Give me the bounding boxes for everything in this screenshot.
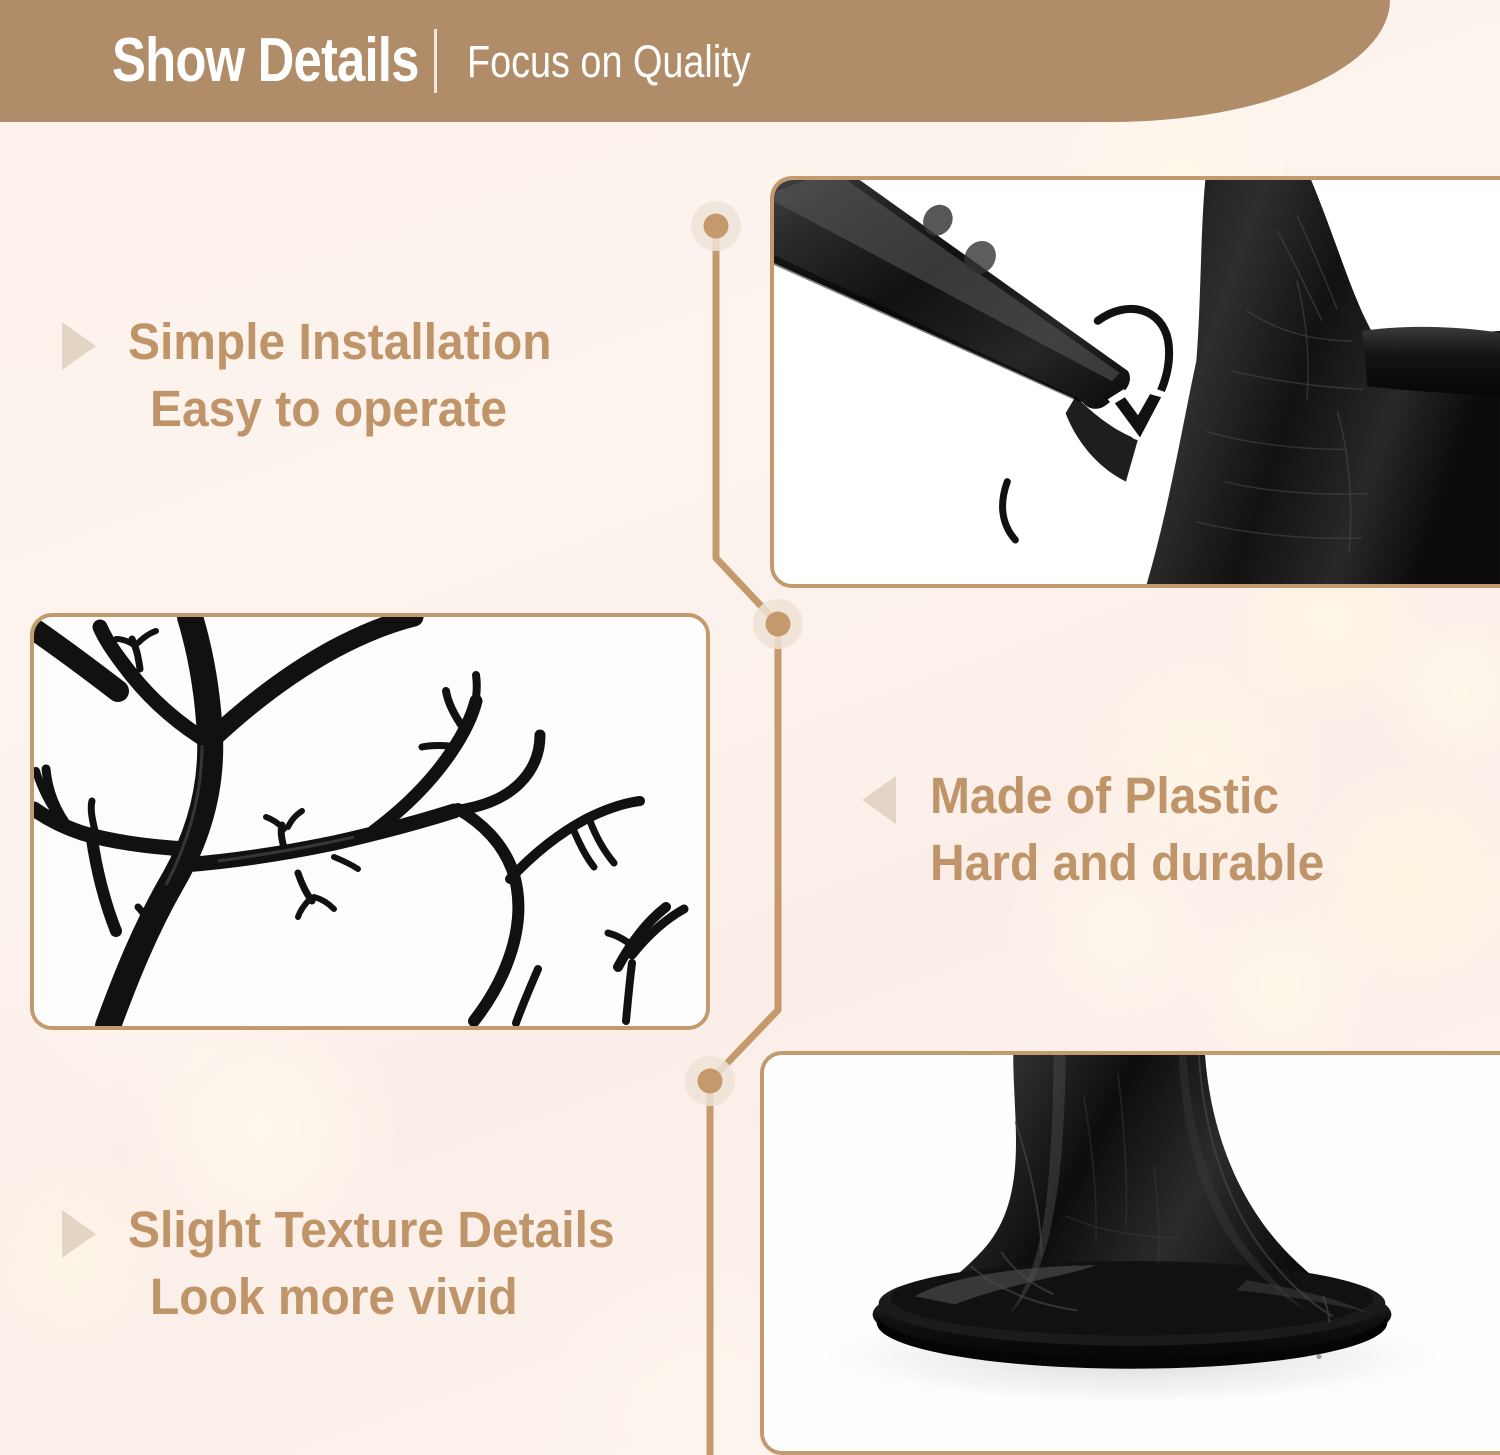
installation-closeup-illustration — [774, 180, 1500, 586]
photo-installation-closeup — [770, 176, 1500, 588]
base-closeup-illustration — [764, 1055, 1500, 1453]
feature-text: Simple Installation Easy to operate — [128, 308, 579, 443]
infographic-page: Show Details Focus on Quality — [0, 0, 1500, 1455]
triangle-right-icon — [62, 322, 96, 370]
feature-line-1: Slight Texture Details — [128, 1196, 615, 1263]
triangle-left-icon — [862, 776, 896, 824]
header-banner: Show Details Focus on Quality — [0, 0, 1390, 122]
feature-line-1: Made of Plastic — [930, 762, 1324, 829]
feature-simple-installation: Simple Installation Easy to operate — [62, 308, 579, 443]
connector-node-1 — [691, 201, 741, 251]
page-title: Show Details — [112, 30, 419, 92]
feature-slight-texture-details: Slight Texture Details Look more vivid — [62, 1196, 646, 1331]
photo-branch-texture — [30, 613, 710, 1030]
base-speck — [1316, 1354, 1321, 1359]
feature-line-2: Hard and durable — [930, 829, 1324, 896]
feature-text: Made of Plastic Hard and durable — [930, 762, 1349, 897]
feature-line-1: Simple Installation — [128, 308, 552, 375]
trunk-arm — [1362, 327, 1500, 396]
branch-texture-illustration — [34, 617, 706, 1026]
triangle-right-icon — [62, 1210, 96, 1258]
feature-line-2: Easy to operate — [150, 375, 553, 442]
header-divider — [434, 29, 437, 93]
photo-base-closeup — [760, 1051, 1500, 1455]
header-subtitle: Focus on Quality — [467, 39, 751, 84]
connector-node-3 — [685, 1056, 735, 1106]
feature-line-2: Look more vivid — [150, 1263, 616, 1330]
feature-made-of-plastic: Made of Plastic Hard and durable — [862, 762, 1349, 897]
connector-node-2 — [753, 599, 803, 649]
feature-text: Slight Texture Details Look more vivid — [128, 1196, 646, 1331]
